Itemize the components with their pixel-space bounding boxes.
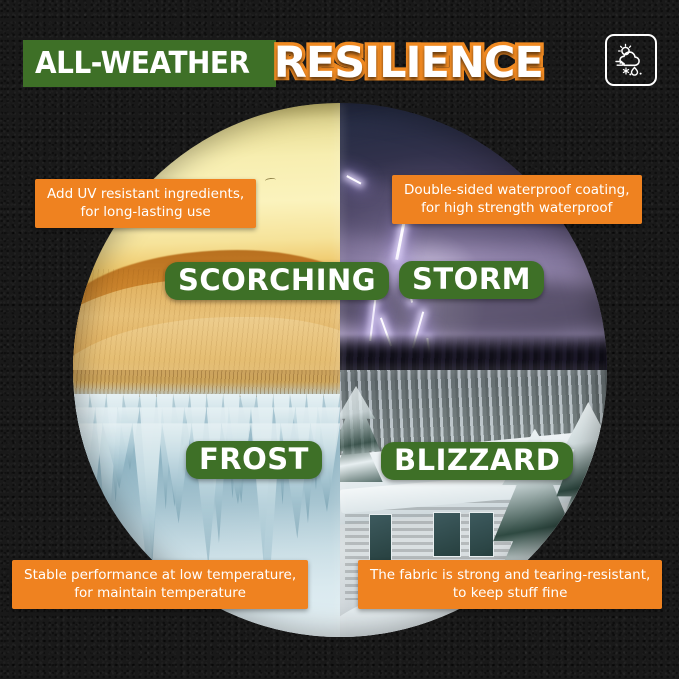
label-frost: FROST: [186, 441, 322, 479]
caption-low-temperature: Stable performance at low temperature, f…: [12, 560, 308, 609]
poster-canvas: ALL-WEATHER RESILIENCE: [0, 0, 679, 679]
caption-uv-line1: Add UV resistant ingredients,: [47, 185, 244, 203]
caption-waterproof-line2: for high strength waterproof: [404, 199, 630, 217]
caption-tearing-resistant: The fabric is strong and tearing-resista…: [358, 560, 662, 609]
caption-uv-line2: for long-lasting use: [47, 203, 244, 221]
caption-tearing-line2: to keep stuff fine: [370, 584, 650, 602]
title-green-block: ALL-WEATHER: [23, 40, 276, 87]
label-blizzard: BLIZZARD: [381, 442, 573, 480]
storm-treeline: [340, 335, 607, 370]
weather-mixed-icon: [612, 41, 650, 79]
quadrant-storm: [340, 103, 607, 370]
cabin-window: [369, 514, 392, 563]
label-scorching: SCORCHING: [165, 262, 389, 300]
page-title-secondary: RESILIENCE: [274, 38, 543, 88]
weather-badge: [605, 34, 657, 86]
label-storm: STORM: [399, 261, 544, 299]
quadrant-scorching: [73, 103, 340, 370]
header: ALL-WEATHER RESILIENCE: [23, 33, 657, 93]
caption-waterproof-line1: Double-sided waterproof coating,: [404, 181, 630, 199]
caption-tearing-line1: The fabric is strong and tearing-resista…: [370, 566, 650, 584]
cabin-window: [433, 512, 461, 557]
caption-uv-resistance: Add UV resistant ingredients, for long-l…: [35, 179, 256, 228]
caption-lowtemp-line1: Stable performance at low temperature,: [24, 566, 296, 584]
bird-silhouette-icon: [265, 177, 276, 183]
caption-waterproof: Double-sided waterproof coating, for hig…: [392, 175, 642, 224]
cabin-window: [469, 512, 494, 557]
page-title-primary: ALL-WEATHER: [35, 46, 250, 81]
caption-lowtemp-line2: for maintain temperature: [24, 584, 296, 602]
